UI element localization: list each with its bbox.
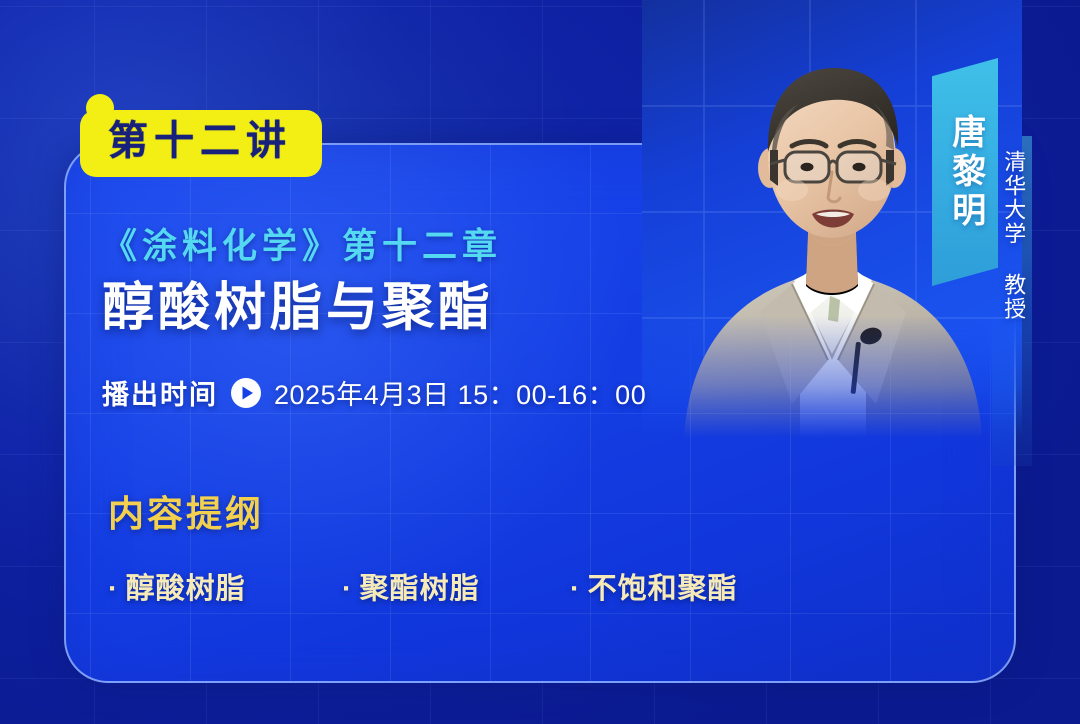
speaker-name: 唐黎明 [932,58,998,286]
speaker-credential-wrap: 清华大学 教授 [996,150,1030,315]
bullet-dot-icon: · [570,573,581,605]
course-subtitle: 《涂料化学》第十二章 [102,225,502,269]
list-item: ·不饱和聚酯 [570,565,738,607]
promo-slide: 唐黎明 清华大学 教授 第十二讲 《涂料化学》第十二章 醇酸树脂与聚酯 播出时间… [0,0,1080,724]
title-block: 《涂料化学》第十二章 醇酸树脂与聚酯 [102,225,502,340]
bullet-dot-icon: · [108,573,119,605]
airtime-row: 播出时间 2025年4月3日 15：00-16：00 [102,373,646,412]
outline-section: 内容提纲 ·醇酸树脂 ·聚酯树脂 ·不饱和聚酯 [108,485,738,607]
speaker-credential: 清华大学 教授 [1000,150,1026,321]
outline-heading: 内容提纲 [108,485,738,537]
list-item-label: 醇酸树脂 [126,573,246,605]
list-item: ·聚酯树脂 [342,565,570,607]
speaker-name-banner: 唐黎明 [932,58,998,286]
list-item-label: 聚酯树脂 [360,573,480,605]
airtime-label: 播出时间 [102,373,218,412]
list-item: ·醇酸树脂 [108,565,342,607]
episode-badge-group: 第十二讲 [80,94,322,177]
page-title: 醇酸树脂与聚酯 [102,277,502,340]
airtime-value: 2025年4月3日 15：00-16：00 [274,373,646,412]
episode-badge: 第十二讲 [80,110,322,177]
play-circle-icon[interactable] [230,377,262,409]
bullet-dot-icon: · [342,573,353,605]
outline-list: ·醇酸树脂 ·聚酯树脂 ·不饱和聚酯 [108,565,738,607]
list-item-label: 不饱和聚酯 [588,573,738,605]
